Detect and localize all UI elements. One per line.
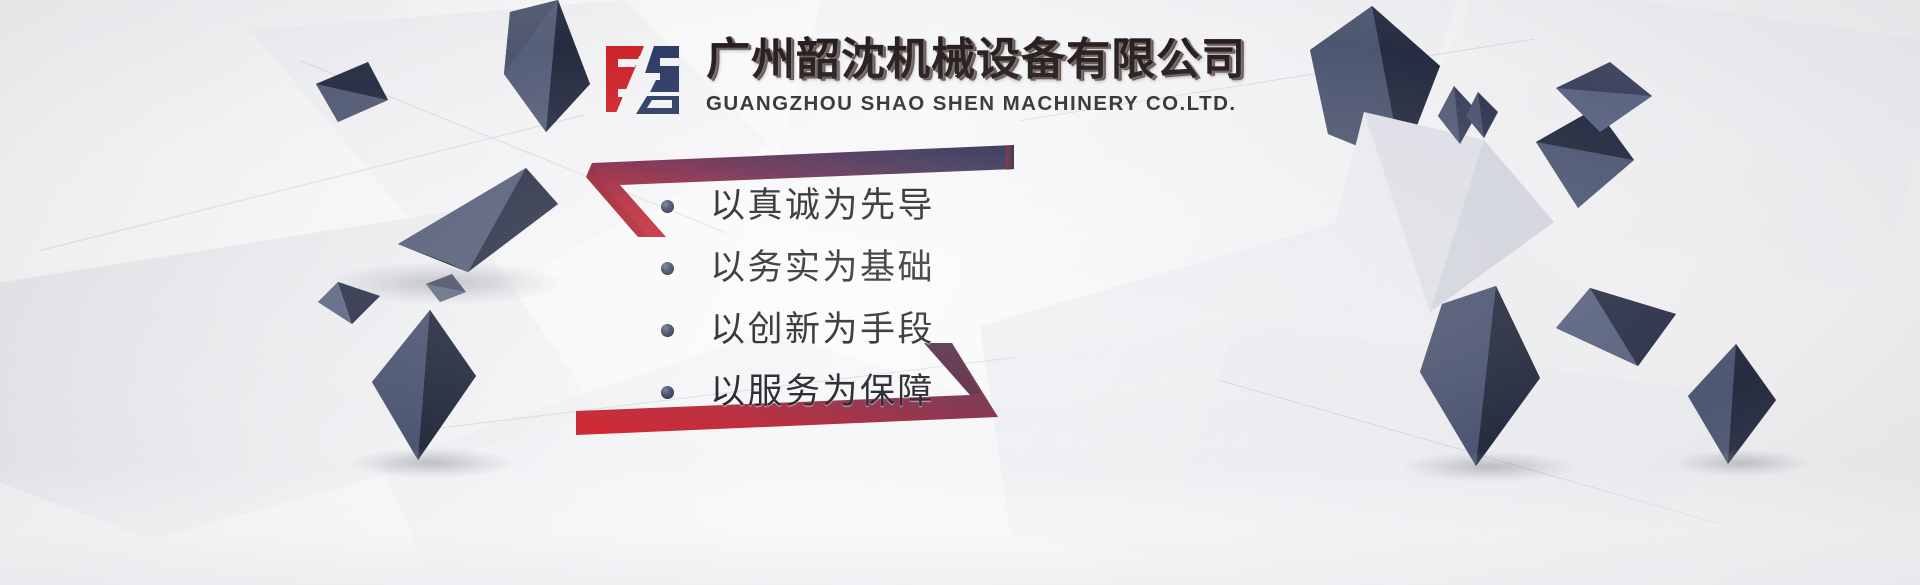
brand-text-block: 广州韶沈机械设备有限公司 GUANGZHOU SHAO SHEN MACHINE… bbox=[706, 36, 1246, 115]
bullet-icon bbox=[661, 324, 674, 337]
company-banner: 广州韶沈机械设备有限公司 GUANGZHOU SHAO SHEN MACHINE… bbox=[0, 0, 1920, 585]
crystal-left-small bbox=[318, 282, 380, 324]
slogan-text: 以务实为基础 bbox=[710, 248, 935, 288]
bullet-icon bbox=[661, 200, 674, 213]
crystal-left-large bbox=[398, 168, 558, 286]
crystal-left-mid-sliver bbox=[426, 274, 466, 302]
list-item: 以服务为保障 bbox=[661, 364, 1081, 420]
crystal-mid-right-flat bbox=[1556, 62, 1652, 132]
list-item: 以务实为基础 bbox=[661, 240, 1081, 296]
crystal-bottom-left-tall bbox=[372, 310, 476, 460]
company-name-chinese: 广州韶沈机械设备有限公司 bbox=[706, 36, 1246, 84]
brand-lockup: 广州韶沈机械设备有限公司 GUANGZHOU SHAO SHEN MACHINE… bbox=[600, 36, 1246, 120]
shaoshen-double-s-logo-icon bbox=[600, 40, 682, 120]
list-item: 以创新为手段 bbox=[661, 302, 1081, 358]
company-name-english: GUANGZHOU SHAO SHEN MACHINERY CO.LTD. bbox=[706, 93, 1246, 115]
crystal-right-bottom-pyramid bbox=[1420, 286, 1540, 466]
crystal-right-diamond bbox=[1556, 288, 1676, 366]
crystal-upper-left-shard bbox=[316, 62, 388, 122]
floor-reflection bbox=[0, 465, 1920, 585]
slogan-list: 以真诚为先导 以务实为基础 以创新为手段 以服务为保障 bbox=[661, 178, 1081, 426]
slogan-text: 以真诚为先导 bbox=[710, 186, 935, 226]
crystal-right-small-spike-b bbox=[1466, 92, 1498, 138]
bullet-icon bbox=[661, 262, 674, 275]
crystal-far-right-shard bbox=[1688, 344, 1776, 464]
slogan-text: 以服务为保障 bbox=[710, 372, 935, 412]
list-item: 以真诚为先导 bbox=[661, 178, 1081, 234]
crystal-top-left-spike bbox=[494, 0, 590, 132]
bullet-icon bbox=[661, 386, 674, 399]
slogan-text: 以创新为手段 bbox=[710, 310, 935, 350]
